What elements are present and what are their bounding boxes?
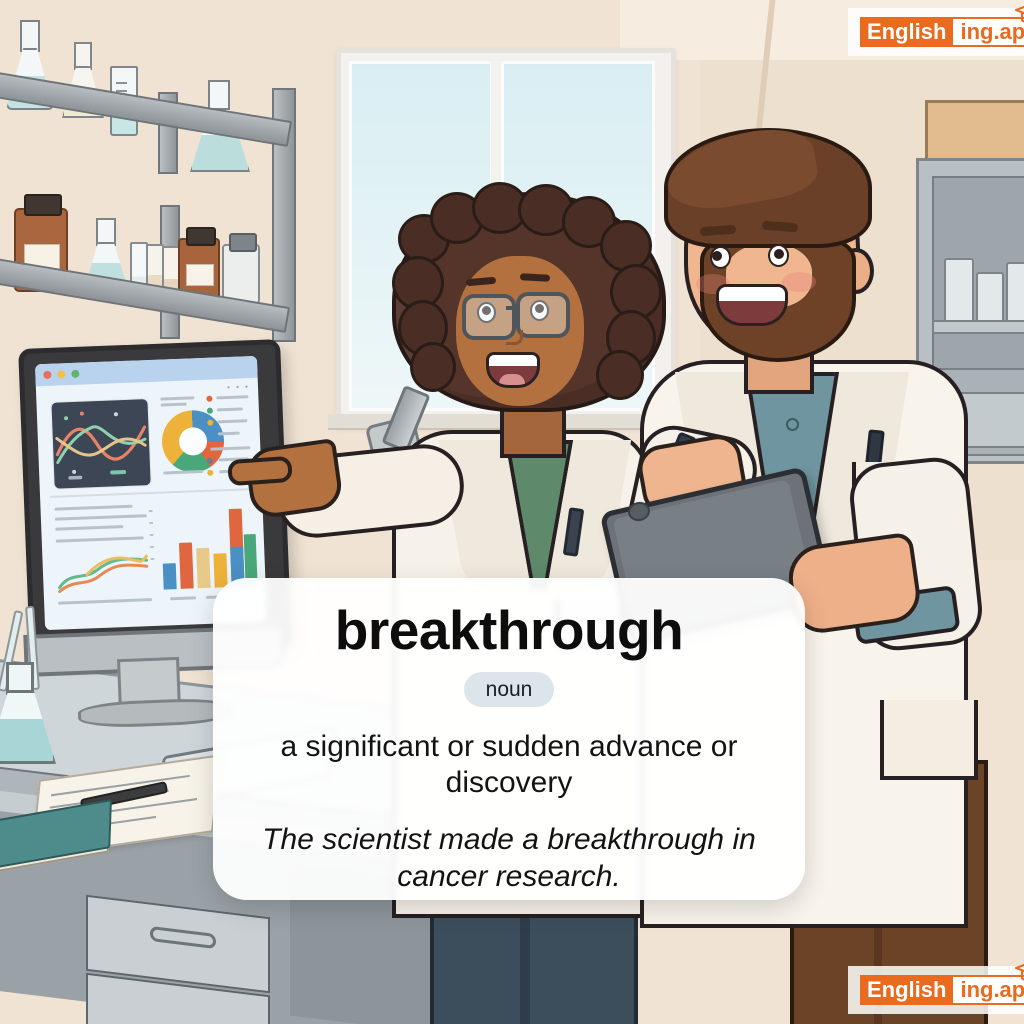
female-mouth xyxy=(486,352,540,388)
screen-text-line xyxy=(160,396,194,400)
close-red-dot[interactable] xyxy=(43,371,51,379)
female-teeth xyxy=(489,355,537,366)
word-definition: a significant or sudden advance or disco… xyxy=(249,729,769,802)
screenshot-canvas: • • • xyxy=(0,0,1024,1024)
vocabulary-word: breakthrough xyxy=(335,602,683,660)
bar-a xyxy=(163,563,177,589)
part-of-speech-badge: noun xyxy=(464,672,555,707)
graduation-cap-icon xyxy=(1014,959,1024,985)
male-pupil-right xyxy=(774,249,784,259)
x-axis-label-line xyxy=(170,596,196,600)
logo-text-english: English xyxy=(860,17,953,47)
female-eyebrow-right xyxy=(520,273,550,282)
dashboard-mini-line-chart xyxy=(56,550,150,596)
female-tongue xyxy=(499,374,525,385)
shirt-button-1 xyxy=(786,418,799,431)
legend-dot xyxy=(207,408,213,414)
cabinet-bottle-1 xyxy=(944,258,974,326)
axis-tick xyxy=(149,510,153,512)
axis-tick xyxy=(149,522,153,524)
maximize-green-dot[interactable] xyxy=(71,370,79,378)
axis-tick xyxy=(150,546,154,548)
desk-flask xyxy=(0,662,50,758)
line-chart-svg xyxy=(51,399,150,489)
example-sentence: The scientist made a breakthrough in can… xyxy=(239,822,779,895)
screen-text-line xyxy=(55,514,147,521)
screen-text-line xyxy=(56,536,144,542)
axis-tick xyxy=(150,534,154,536)
cabinet-bottle-3 xyxy=(1006,262,1024,326)
screen-text-line xyxy=(58,598,152,605)
hair-curl xyxy=(600,220,652,272)
bar-b xyxy=(179,542,194,588)
male-pupil-left xyxy=(712,251,722,261)
logo-text-english: English xyxy=(860,975,953,1005)
bar-c xyxy=(196,548,211,588)
dashboard-bar-chart xyxy=(159,504,258,590)
cardboard-box xyxy=(925,100,1024,166)
male-teeth xyxy=(719,287,785,301)
legend-label-line xyxy=(216,395,248,399)
female-nose xyxy=(506,330,523,345)
female-pointing-finger xyxy=(227,456,293,486)
cabinet-shelf xyxy=(932,320,1024,334)
legend-label-line xyxy=(217,419,247,423)
legend-label-line xyxy=(217,407,243,411)
screen-text-line xyxy=(210,446,250,451)
graduation-cap-icon xyxy=(1014,1,1024,27)
screen-text-line xyxy=(163,470,203,475)
screen-text-line xyxy=(161,403,187,407)
hair-curl xyxy=(596,350,644,400)
bar-d xyxy=(213,553,227,587)
male-side-pocket xyxy=(880,700,978,780)
eyeglasses-lens-right xyxy=(516,292,570,338)
legend-dot xyxy=(206,396,212,402)
definition-card: breakthrough noun a significant or sudde… xyxy=(213,578,805,900)
female-leg-seam xyxy=(520,900,530,1024)
legend-label-line xyxy=(218,432,240,436)
mini-line-chart-svg xyxy=(56,550,150,596)
dashboard-line-chart xyxy=(50,398,151,490)
cabinet-bottle-2 xyxy=(976,272,1004,326)
eyeglasses-bridge xyxy=(506,306,520,310)
minimize-yellow-dot[interactable] xyxy=(57,370,65,378)
brand-logo-top[interactable]: English ing.app xyxy=(848,8,1024,56)
hair-curl xyxy=(410,342,456,392)
brand-logo-bottom[interactable]: English ing.app xyxy=(848,966,1024,1014)
axis-tick xyxy=(150,558,154,560)
legend-dot xyxy=(207,470,213,476)
overflow-menu-icon[interactable]: • • • xyxy=(227,382,250,392)
male-mouth xyxy=(716,284,788,326)
white-reagent-bottle xyxy=(222,244,260,304)
screen-text-line xyxy=(54,505,132,511)
screen-text-line xyxy=(55,525,123,531)
